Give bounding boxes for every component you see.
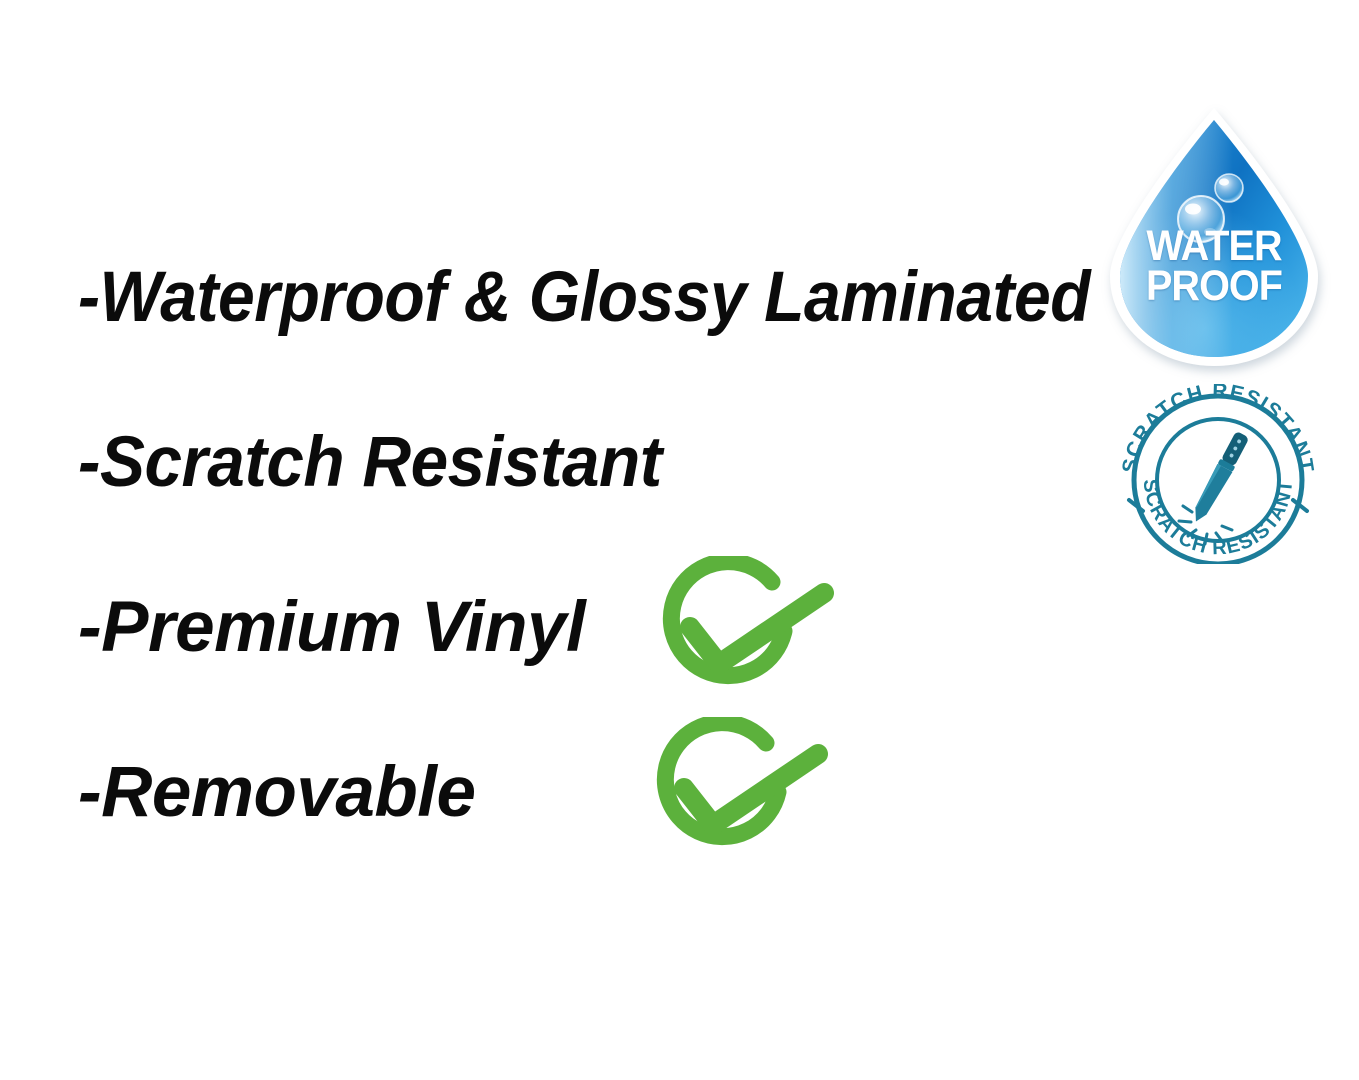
- feature-text-premium-vinyl: -Premium Vinyl: [78, 592, 585, 663]
- feature-text-removable: -Removable: [78, 757, 475, 828]
- feature-graphic-canvas: -Waterproof & Glossy Laminated -Scratch …: [0, 0, 1359, 1080]
- check-mark: [690, 593, 824, 664]
- waterproof-badge: WATER PROOF: [1104, 104, 1324, 372]
- green-check-icon-premium-vinyl: [634, 556, 839, 706]
- scratch-resistant-badge: SCRATCH RESISTANT SCRATCH RESISTANT: [1112, 384, 1324, 564]
- knife-icon: [1189, 430, 1250, 525]
- green-check-icon-removable: [628, 717, 833, 867]
- water-bubble-large: [1178, 196, 1224, 242]
- feature-text-waterproof-glossy-laminated: -Waterproof & Glossy Laminated: [78, 262, 1090, 333]
- feature-text-scratch-resistant: -Scratch Resistant: [78, 427, 662, 498]
- water-bubble-small: [1215, 174, 1243, 202]
- stamp-text-top: SCRATCH RESISTANT: [1118, 384, 1318, 475]
- check-mark: [684, 754, 818, 825]
